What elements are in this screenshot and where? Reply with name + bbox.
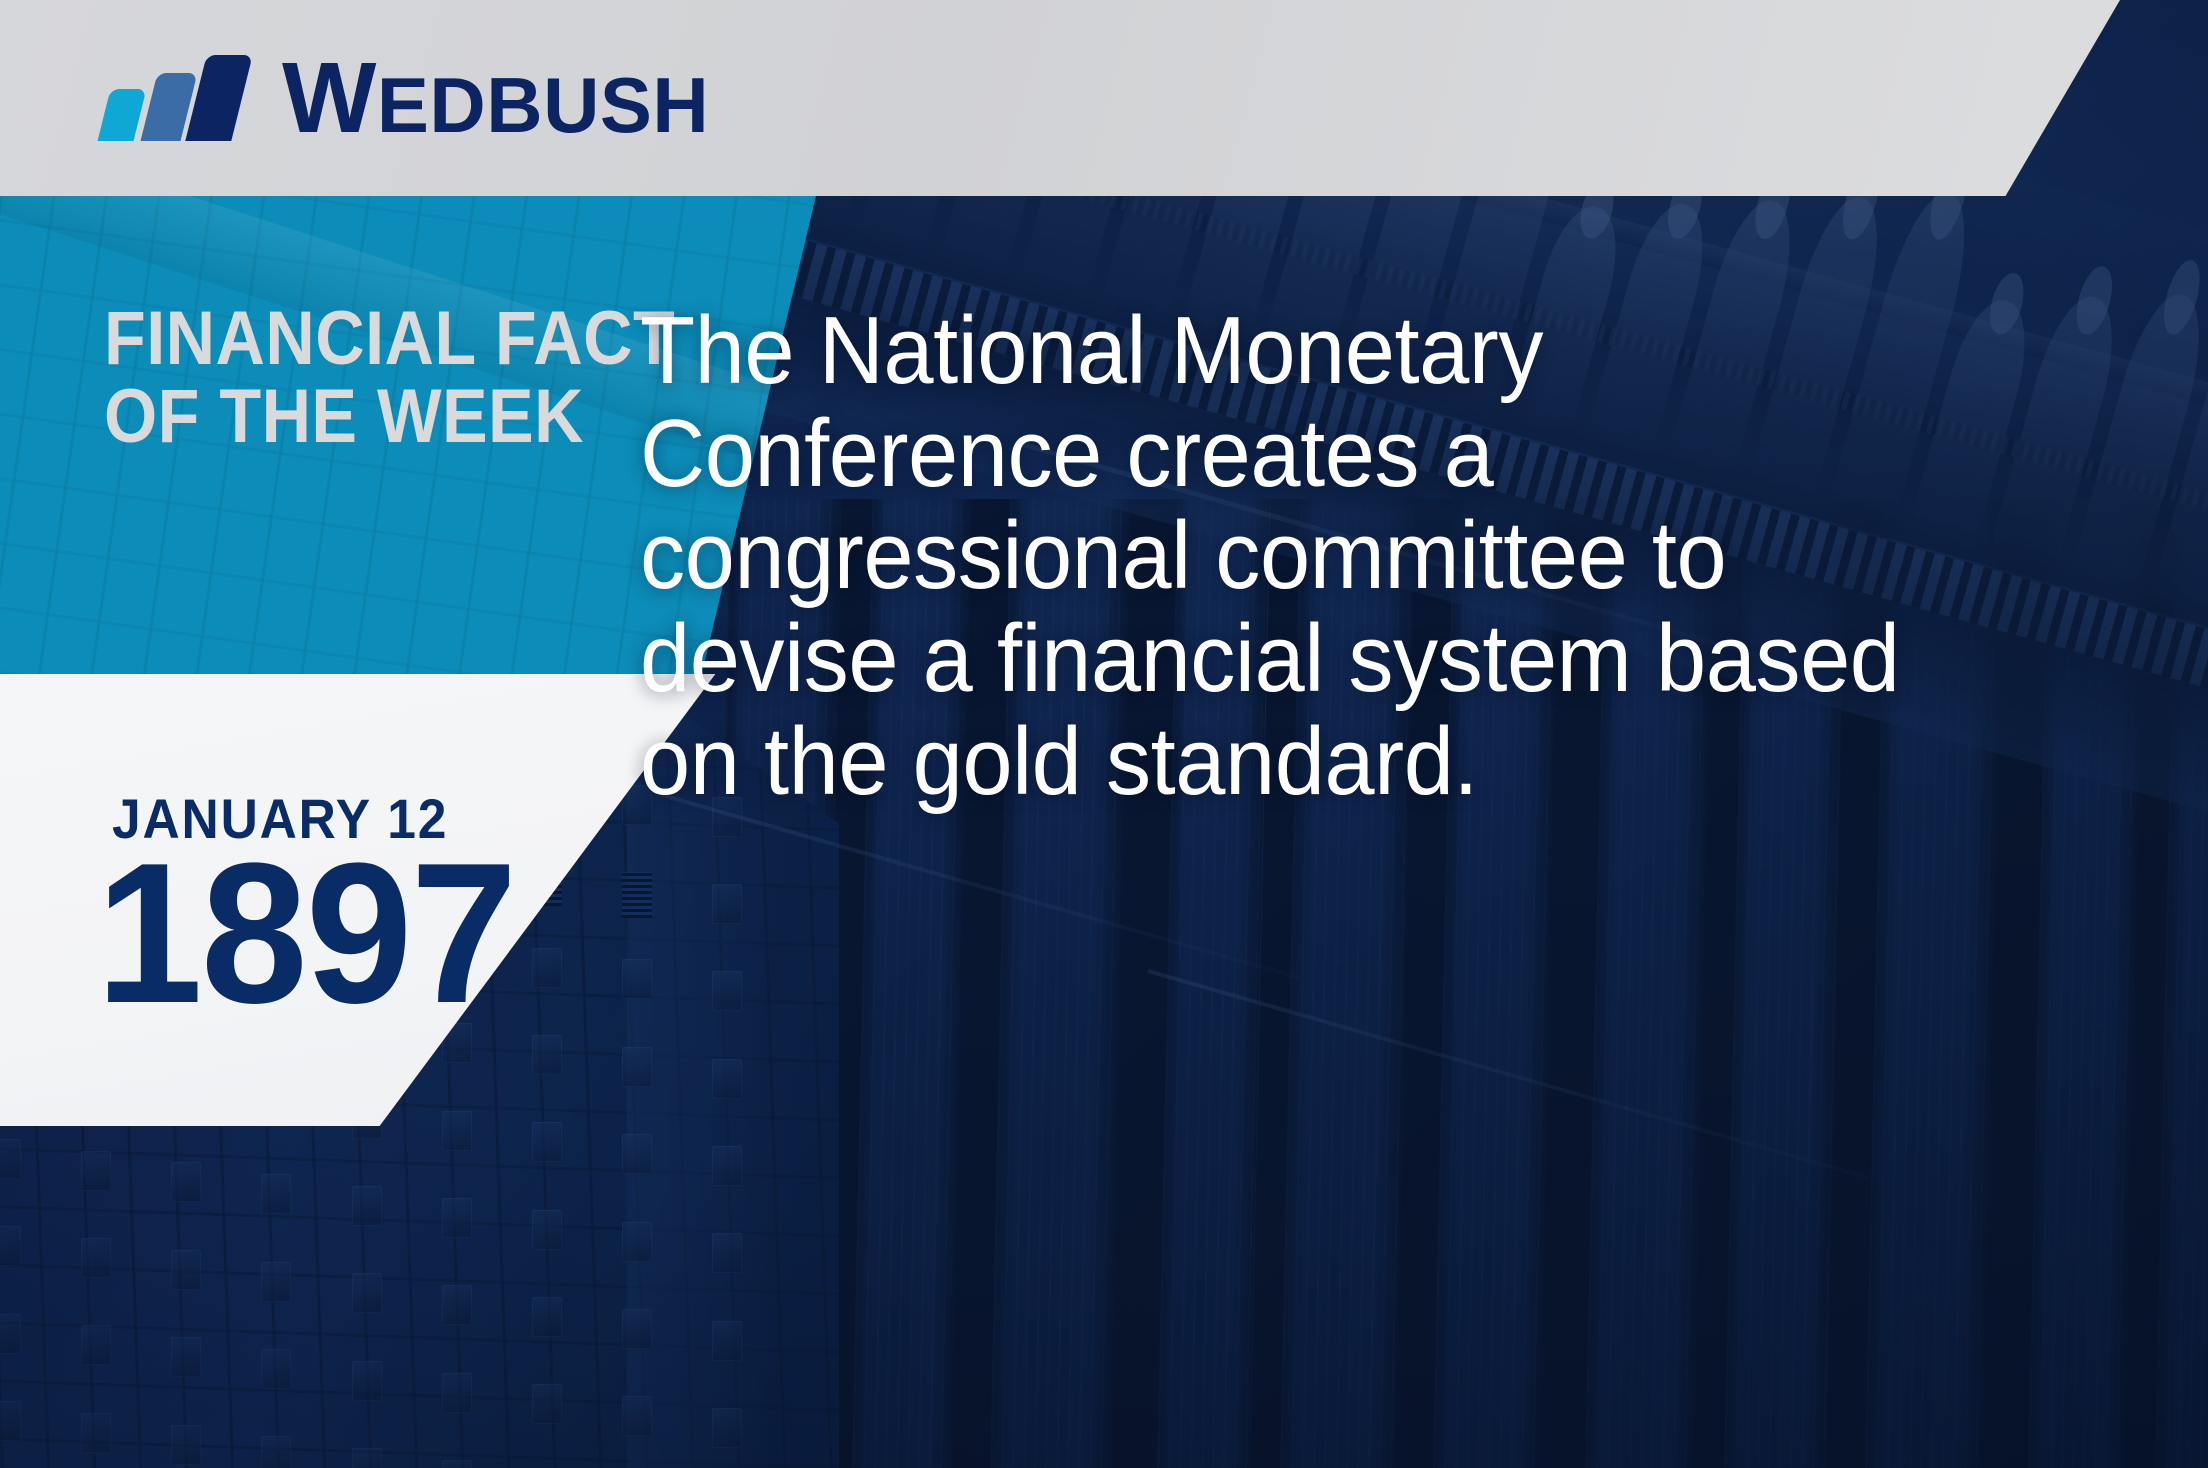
wedbush-logo[interactable]: WEDBUSH	[104, 52, 709, 144]
wordmark-remaining-letters: EDBUSH	[377, 70, 709, 142]
kicker-title: Financial Fact of the Week	[104, 300, 709, 457]
logo-bar-cyan	[98, 89, 147, 141]
fact-headline: The National Monetary Conference creates…	[640, 300, 1937, 814]
wedbush-wordmark: WEDBUSH	[282, 52, 709, 144]
wordmark-lead-letter: W	[282, 52, 377, 144]
kicker-line-2: of the Week	[104, 378, 709, 456]
kicker-line-1: Financial Fact	[104, 300, 709, 378]
brand-header-bar: WEDBUSH	[0, 0, 2120, 196]
date-year: 1897	[96, 842, 515, 1026]
logo-bar-navy	[185, 55, 252, 141]
wedbush-bars-logo-icon	[104, 55, 248, 141]
financial-fact-of-the-week-card: WEDBUSH Financial Fact of the Week Janua…	[0, 0, 2208, 1468]
